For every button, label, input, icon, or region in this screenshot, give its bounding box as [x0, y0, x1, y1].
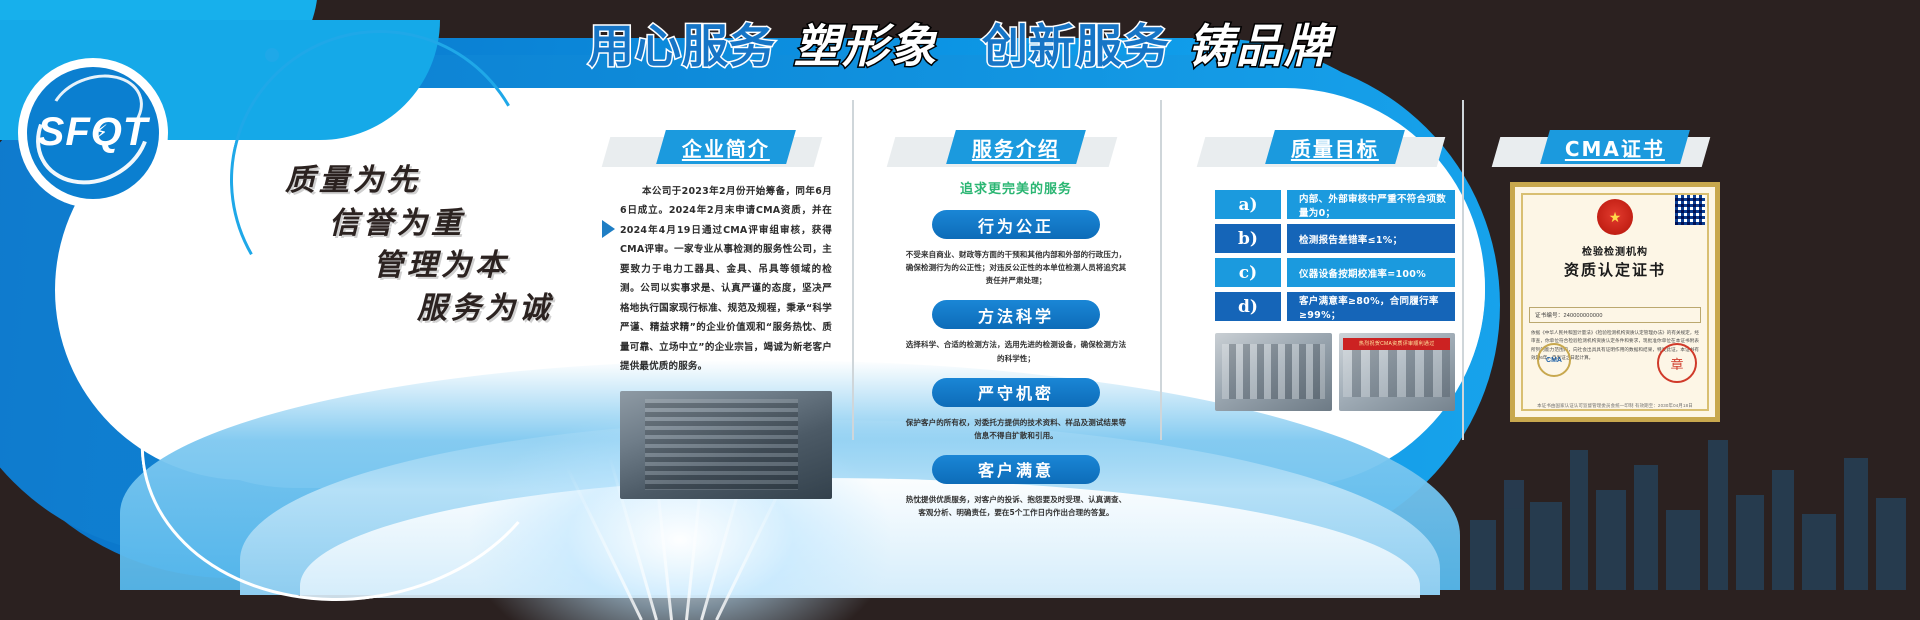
panel-service-intro: 服务介绍 追求更完美的服务 行为公正 不受来自商业、财政等方面的干预和其他内部和… — [905, 130, 1127, 519]
tag-label: 服务介绍 — [972, 133, 1060, 162]
service-subtitle: 追求更完美的服务 — [905, 178, 1127, 197]
tag-body: CMA证书 — [1540, 130, 1690, 164]
cma-certificate-image[interactable]: ★ 检验检测机构 资质认定证书 证书编号：240000000000 依据《中华人… — [1510, 182, 1720, 422]
tag-company-profile[interactable]: 企业简介 — [620, 130, 832, 164]
tag-body: 服务介绍 — [946, 130, 1086, 164]
city-skyline-decoration — [1460, 400, 1920, 590]
certificate-meta: 证书编号：240000000000 — [1529, 307, 1701, 323]
goal-key-c: c) — [1215, 258, 1281, 287]
tag-cma-certificate[interactable]: CMA证书 — [1510, 130, 1720, 164]
goal-text-a: 内部、外部审核中严重不符合项数量为0； — [1287, 190, 1455, 219]
slogan-line-1: 质量为先 — [285, 160, 605, 203]
panel-company-profile: 企业简介 本公司于2023年2月份开始筹备，同年6月6日成立。2024年2月末申… — [620, 130, 832, 499]
service-pill-2[interactable]: 方法科学 — [932, 300, 1100, 329]
goal-row: c) 仪器设备按期校准率=100% — [1215, 258, 1455, 287]
column-divider — [852, 100, 854, 440]
tag-quality-goals[interactable]: 质量目标 — [1215, 130, 1455, 164]
certificate-line-2: 资质认定证书 — [1515, 259, 1715, 280]
photo-banner-text: 热烈祝贺CMA资质评审顺利通过 — [1343, 338, 1450, 350]
lab-equipment-photo[interactable] — [1215, 333, 1332, 411]
goal-text-c: 仪器设备按期校准率=100% — [1287, 258, 1455, 287]
company-logo[interactable]: SFQT ⚡ — [18, 58, 168, 208]
headline-segment-1: 用心服务 — [588, 10, 776, 76]
triangle-bullet-icon — [602, 220, 615, 238]
goal-row: b) 检测报告差错率≤1%； — [1215, 224, 1455, 253]
cma-badge-icon: CMA — [1537, 343, 1571, 377]
certificate-footer: 本证书由国家认证认可监督管理委员会统一印制 有效期至：2030年04月18日 — [1515, 403, 1715, 409]
service-desc-2: 选择科学、合适的检测方法，选用先进的检测设备，确保检测方法的科学性； — [905, 338, 1127, 364]
qr-code-icon — [1675, 195, 1705, 225]
tag-body: 企业简介 — [656, 130, 796, 164]
goal-key-b: b) — [1215, 224, 1281, 253]
slogan-block: 质量为先 信誉为重 管理为本 服务为诚 — [285, 160, 605, 330]
panel-quality-goals: 质量目标 a) 内部、外部审核中严重不符合项数量为0； b) 检测报告差错率≤1… — [1215, 130, 1455, 411]
column-divider — [1160, 100, 1162, 440]
national-emblem-icon: ★ — [1597, 199, 1633, 235]
service-pill-4[interactable]: 客户满意 — [932, 455, 1100, 484]
panel-cma-certificate: CMA证书 ★ 检验检测机构 资质认定证书 证书编号：240000000000 … — [1510, 130, 1720, 422]
tag-label: 质量目标 — [1291, 133, 1379, 162]
column-divider — [1462, 100, 1464, 440]
headline-segment-4: 铸品牌 — [1188, 10, 1332, 76]
lightning-bolt-icon: ⚡ — [94, 120, 108, 145]
tag-label: CMA证书 — [1565, 133, 1665, 162]
goal-text-b: 检测报告差错率≤1%； — [1287, 224, 1455, 253]
certificate-line-1: 检验检测机构 — [1515, 243, 1715, 258]
tag-service-intro[interactable]: 服务介绍 — [905, 130, 1127, 164]
goal-text-d: 客户满意率≥80%，合同履行率≥99%； — [1287, 292, 1455, 321]
headline-segment-3: 创新服务 — [982, 10, 1170, 76]
slogan-line-4: 服务为诚 — [417, 288, 605, 331]
slogan-line-3: 管理为本 — [373, 245, 605, 288]
cma-review-meeting-photo[interactable]: 热烈祝贺CMA资质评审顺利通过 — [1339, 333, 1456, 411]
service-desc-3: 保护客户的所有权，对委托方提供的技术资料、样品及测试结果等信息不得自扩散和引用。 — [905, 416, 1127, 442]
goal-key-d: d) — [1215, 292, 1281, 321]
service-desc-1: 不受来自商业、财政等方面的干预和其他内部和外部的行政压力，确保检测行为的公正性；… — [905, 248, 1127, 287]
arc-endpoint-dot — [186, 310, 200, 324]
service-pill-3[interactable]: 严守机密 — [932, 378, 1100, 407]
service-desc-4: 热忱提供优质服务，对客户的投诉、抱怨要及时受理、认真调查、客观分析、明确责任，要… — [905, 493, 1127, 519]
company-profile-text: 本公司于2023年2月份开始筹备，同年6月6日成立。2024年2月末申请CMA资… — [620, 186, 832, 372]
official-seal-icon: 章 — [1657, 343, 1697, 383]
company-profile-paragraph: 本公司于2023年2月份开始筹备，同年6月6日成立。2024年2月末申请CMA资… — [620, 182, 832, 377]
poster-headline: 用心服务 塑形象 创新服务 铸品牌 — [0, 14, 1920, 72]
quality-photo-group: 热烈祝贺CMA资质评审顺利通过 — [1215, 333, 1455, 411]
goal-row: d) 客户满意率≥80%，合同履行率≥99%； — [1215, 292, 1455, 321]
tag-body: 质量目标 — [1265, 130, 1405, 164]
slogan-line-2: 信誉为重 — [329, 203, 605, 246]
goal-row: a) 内部、外部审核中严重不符合项数量为0； — [1215, 190, 1455, 219]
headline-segment-2: 塑形象 — [794, 10, 938, 76]
poster-canvas: SFQT ⚡ 用心服务 塑形象 创新服务 铸品牌 质量为先 信誉为重 管理为本 … — [0, 0, 1920, 620]
service-pill-1[interactable]: 行为公正 — [932, 210, 1100, 239]
company-building-photo[interactable] — [620, 391, 832, 499]
tag-label: 企业简介 — [682, 133, 770, 162]
logo-text: SFQT — [18, 110, 168, 155]
goal-key-a: a) — [1215, 190, 1281, 219]
